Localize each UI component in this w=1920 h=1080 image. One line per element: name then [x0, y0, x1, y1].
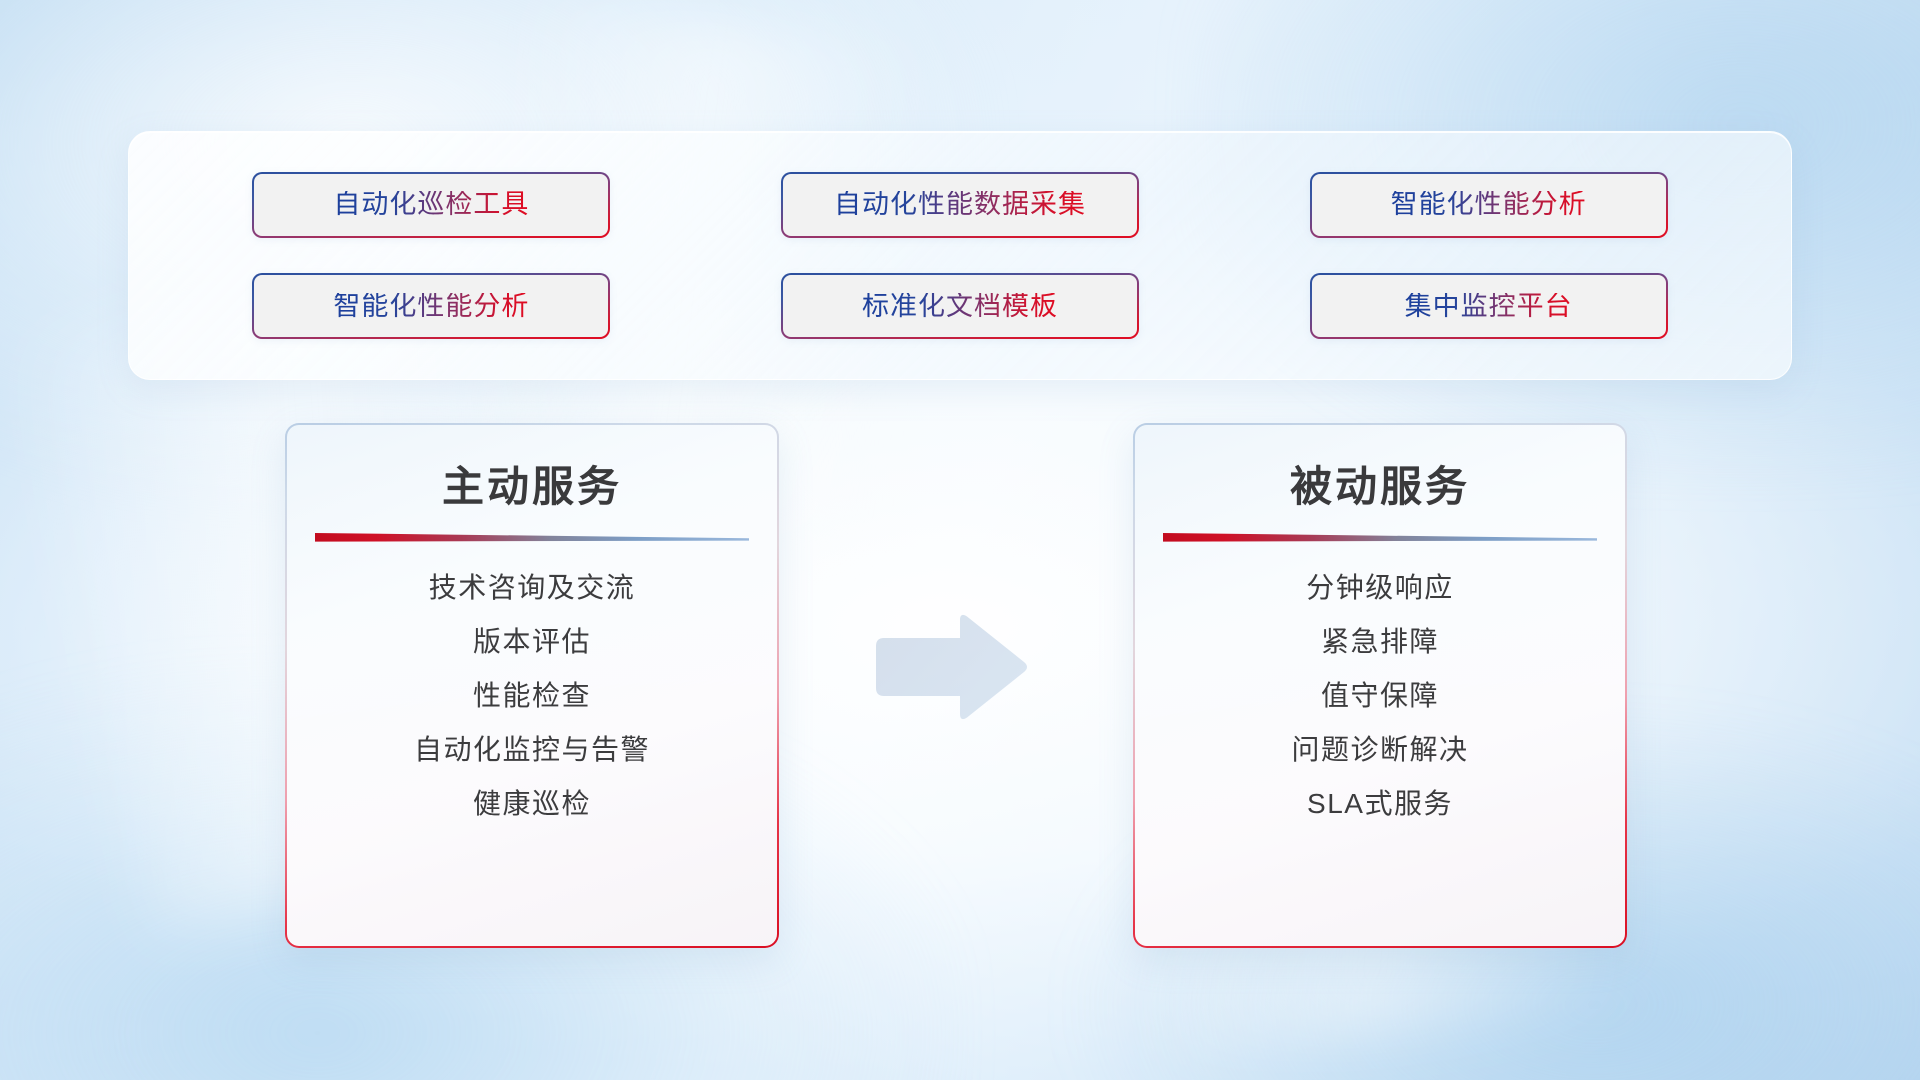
card-title: 被动服务: [1290, 463, 1470, 510]
capability-tag-label: 智能化性能分析: [333, 293, 529, 320]
service-item-list: 技术咨询及交流 版本评估 性能检查 自动化监控与告警 健康巡检: [311, 570, 753, 821]
capability-tag[interactable]: 智能化性能分析: [1310, 172, 1668, 238]
list-item: 值守保障: [1321, 678, 1439, 713]
list-item: SLA式服务: [1307, 786, 1453, 821]
list-item: 自动化监控与告警: [414, 732, 650, 767]
list-item: 紧急排障: [1321, 624, 1439, 659]
capability-tag-label: 标准化文档模板: [862, 293, 1058, 320]
capability-tag-label: 自动化巡检工具: [333, 191, 529, 218]
list-item: 问题诊断解决: [1291, 732, 1468, 767]
service-card-proactive[interactable]: 主动服务 技术咨询及交流 版本评估 性能检查: [285, 423, 779, 948]
list-item: 版本评估: [473, 624, 591, 659]
capability-tag-label: 集中监控平台: [1405, 293, 1573, 320]
list-item: 技术咨询及交流: [429, 570, 636, 605]
flow-arrow-right-icon: [872, 612, 1030, 722]
capability-tag-panel: 自动化巡检工具 自动化性能数据采集 智能化性能分析 智能化性能分析 标准化文档模…: [128, 131, 1792, 380]
capability-tag[interactable]: 自动化巡检工具: [252, 172, 610, 238]
title-divider: [1163, 532, 1597, 544]
capability-tag[interactable]: 集中监控平台: [1310, 273, 1668, 339]
service-item-list: 分钟级响应 紧急排障 值守保障 问题诊断解决 SLA式服务: [1159, 570, 1601, 821]
capability-tag[interactable]: 智能化性能分析: [252, 273, 610, 339]
title-divider: [315, 532, 749, 544]
capability-tag[interactable]: 标准化文档模板: [781, 273, 1139, 339]
capability-tag-label: 自动化性能数据采集: [834, 191, 1086, 218]
capability-tag-label: 智能化性能分析: [1391, 191, 1587, 218]
service-card-reactive[interactable]: 被动服务 分钟级响应 紧急排障 值守保障: [1133, 423, 1627, 948]
card-title: 主动服务: [442, 463, 622, 510]
capability-tag[interactable]: 自动化性能数据采集: [781, 172, 1139, 238]
diagram-stage: 自动化巡检工具 自动化性能数据采集 智能化性能分析 智能化性能分析 标准化文档模…: [0, 0, 1920, 1080]
list-item: 健康巡检: [473, 786, 591, 821]
list-item: 性能检查: [473, 678, 591, 713]
list-item: 分钟级响应: [1306, 570, 1454, 605]
